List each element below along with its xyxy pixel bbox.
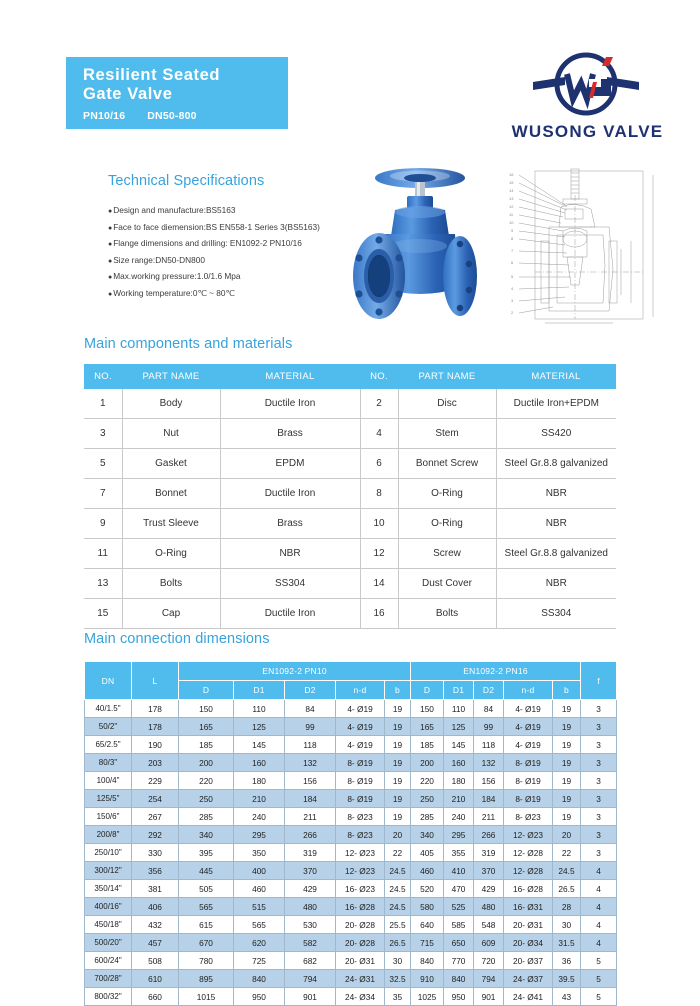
cell-value: 32.5 xyxy=(385,970,411,988)
cell-value: 4- Ø19 xyxy=(336,700,385,718)
cell-value: 240 xyxy=(444,808,474,826)
cell-value: 210 xyxy=(444,790,474,808)
cell-value: 250 xyxy=(411,790,444,808)
cell-value: 4 xyxy=(581,916,617,934)
col-no-2: NO. xyxy=(360,364,398,389)
cell-value: 30 xyxy=(553,916,581,934)
company-logo: WUSONG VALVE xyxy=(495,52,680,152)
cell-value: 4 xyxy=(581,898,617,916)
cell-value: 4- Ø19 xyxy=(336,718,385,736)
col-dn: DN xyxy=(85,662,132,700)
cell-value: 19 xyxy=(385,790,411,808)
cell-part-name: Dust Cover xyxy=(398,569,496,599)
bullet-icon: ● xyxy=(108,258,112,265)
bullet-icon: ● xyxy=(108,241,112,248)
product-title-line2: Gate Valve xyxy=(83,85,288,104)
cell-value: 24.5 xyxy=(385,862,411,880)
cell-value: 22 xyxy=(385,844,411,862)
cell-value: 16- Ø28 xyxy=(504,880,553,898)
cell-value: 35 xyxy=(385,988,411,1006)
cell-material: Steel Gr.8.8 galvanized xyxy=(496,539,616,569)
cell-value: 165 xyxy=(411,718,444,736)
cell-value: 610 xyxy=(132,970,179,988)
cell-value: 640 xyxy=(411,916,444,934)
col-pn10-d1: D1 xyxy=(234,681,285,700)
cell-value: 19 xyxy=(553,790,581,808)
cell-value: 20 xyxy=(553,826,581,844)
cell-value: 615 xyxy=(179,916,234,934)
cell-value: 3 xyxy=(581,772,617,790)
cell-material: EPDM xyxy=(220,449,360,479)
cell-value: 180 xyxy=(234,772,285,790)
cell-value: 295 xyxy=(444,826,474,844)
cell-value: 19 xyxy=(553,772,581,790)
dimensions-header-row-1: DN L EN1092-2 PN10 EN1092-2 PN16 f xyxy=(85,662,617,681)
cell-part-name: Bonnet xyxy=(122,479,220,509)
cell-value: 406 xyxy=(132,898,179,916)
cell-value: 660 xyxy=(132,988,179,1006)
cell-no: 7 xyxy=(84,479,122,509)
cell-value: 480 xyxy=(285,898,336,916)
table-row: 13 Bolts SS304 14 Dust Cover NBR xyxy=(84,569,616,599)
cell-value: 355 xyxy=(444,844,474,862)
cell-value: 145 xyxy=(234,736,285,754)
spec-item-text: Face to face diemension:BS EN558-1 Serie… xyxy=(113,222,320,232)
svg-text:5: 5 xyxy=(511,274,514,279)
cell-value: 150 xyxy=(179,700,234,718)
cell-value: 118 xyxy=(285,736,336,754)
table-row: 125/5"2542502101848- Ø19192502101848- Ø1… xyxy=(85,790,617,808)
cell-part-name: O-Ring xyxy=(398,509,496,539)
cell-value: 254 xyxy=(132,790,179,808)
cell-value: 22 xyxy=(553,844,581,862)
cell-value: 445 xyxy=(179,862,234,880)
cell-value: 292 xyxy=(132,826,179,844)
col-l: L xyxy=(132,662,179,700)
cell-part-name: Cap xyxy=(122,599,220,629)
cell-material: SS304 xyxy=(496,599,616,629)
cell-value: 24- Ø31 xyxy=(336,970,385,988)
cell-material: Steel Gr.8.8 galvanized xyxy=(496,449,616,479)
svg-text:14: 14 xyxy=(509,188,514,193)
table-row: 300/12"35644540037012- Ø2324.54604103701… xyxy=(85,862,617,880)
cell-part-name: Bolts xyxy=(398,599,496,629)
table-row: 150/6"2672852402118- Ø23192852402118- Ø2… xyxy=(85,808,617,826)
cell-value: 794 xyxy=(474,970,504,988)
col-pn16-d: D xyxy=(411,681,444,700)
svg-text:4: 4 xyxy=(511,286,514,291)
col-pn10-d: D xyxy=(179,681,234,700)
product-title-line1: Resilient Seated xyxy=(83,66,288,85)
cell-dn: 150/6" xyxy=(85,808,132,826)
cell-value: 565 xyxy=(179,898,234,916)
svg-text:3: 3 xyxy=(511,298,514,303)
cell-part-name: Nut xyxy=(122,419,220,449)
cell-value: 725 xyxy=(234,952,285,970)
spec-item-text: Working temperature:0℃ ~ 80℃ xyxy=(113,288,235,298)
cell-dn: 450/18" xyxy=(85,916,132,934)
main-components-heading: Main components and materials xyxy=(84,336,292,352)
table-row: 9 Trust Sleeve Brass 10 O-Ring NBR xyxy=(84,509,616,539)
table-row: 250/10"33039535031912- Ø232240535531912-… xyxy=(85,844,617,862)
cell-dn: 350/14" xyxy=(85,880,132,898)
cell-value: 99 xyxy=(474,718,504,736)
page-header: Resilient Seated Gate Valve PN10/16DN50-… xyxy=(0,0,700,160)
table-row: 1 Body Ductile Iron 2 Disc Ductile Iron+… xyxy=(84,389,616,419)
cell-value: 220 xyxy=(179,772,234,790)
cell-value: 19 xyxy=(385,754,411,772)
svg-text:16: 16 xyxy=(509,172,514,177)
cell-value: 4 xyxy=(581,880,617,898)
cell-value: 200 xyxy=(411,754,444,772)
col-group-pn16: EN1092-2 PN16 xyxy=(411,662,581,681)
cell-value: 26.5 xyxy=(385,934,411,952)
cell-value: 520 xyxy=(411,880,444,898)
cell-material: SS420 xyxy=(496,419,616,449)
cell-value: 410 xyxy=(444,862,474,880)
cell-value: 1015 xyxy=(179,988,234,1006)
cell-value: 356 xyxy=(132,862,179,880)
spec-item-text: Size range:DN50-DN800 xyxy=(113,255,205,265)
cell-value: 670 xyxy=(179,934,234,952)
cell-value: 295 xyxy=(234,826,285,844)
cell-material: NBR xyxy=(496,569,616,599)
cell-material: Ductile Iron+EPDM xyxy=(496,389,616,419)
cell-value: 267 xyxy=(132,808,179,826)
cell-dn: 500/20" xyxy=(85,934,132,952)
table-row: 50/2"178165125994- Ø1919165125994- Ø1919… xyxy=(85,718,617,736)
col-pn16-nd: n-d xyxy=(504,681,553,700)
cell-value: 4- Ø19 xyxy=(336,736,385,754)
cell-value: 24.5 xyxy=(385,880,411,898)
cell-value: 156 xyxy=(285,772,336,790)
cell-value: 780 xyxy=(179,952,234,970)
cell-value: 340 xyxy=(179,826,234,844)
col-pn16-d1: D1 xyxy=(444,681,474,700)
table-row: 7 Bonnet Ductile Iron 8 O-Ring NBR xyxy=(84,479,616,509)
cell-value: 3 xyxy=(581,844,617,862)
cell-value: 3 xyxy=(581,700,617,718)
cell-value: 184 xyxy=(285,790,336,808)
cell-value: 39.5 xyxy=(553,970,581,988)
components-table-header-row: NO. PART NAME MATERIAL NO. PART NAME MAT… xyxy=(84,364,616,389)
cell-value: 405 xyxy=(411,844,444,862)
cell-value: 5 xyxy=(581,970,617,988)
cell-value: 480 xyxy=(474,898,504,916)
col-part-name-2: PART NAME xyxy=(398,364,496,389)
cell-dn: 50/2" xyxy=(85,718,132,736)
cell-value: 19 xyxy=(553,700,581,718)
cell-value: 211 xyxy=(285,808,336,826)
cell-value: 508 xyxy=(132,952,179,970)
cell-value: 340 xyxy=(411,826,444,844)
bullet-icon: ● xyxy=(108,225,112,232)
cell-value: 24- Ø34 xyxy=(336,988,385,1006)
cell-value: 12- Ø23 xyxy=(504,826,553,844)
cell-material: NBR xyxy=(496,479,616,509)
cell-value: 330 xyxy=(132,844,179,862)
cell-value: 400 xyxy=(234,862,285,880)
cell-part-name: Bonnet Screw xyxy=(398,449,496,479)
cell-value: 19 xyxy=(385,808,411,826)
table-row: 350/14"38150546042916- Ø2324.55204704291… xyxy=(85,880,617,898)
cell-value: 5 xyxy=(581,952,617,970)
cell-value: 25.5 xyxy=(385,916,411,934)
cell-value: 178 xyxy=(132,718,179,736)
cell-part-name: Trust Sleeve xyxy=(122,509,220,539)
cell-value: 20- Ø31 xyxy=(336,952,385,970)
cell-value: 160 xyxy=(444,754,474,772)
cell-material: Ductile Iron xyxy=(220,389,360,419)
main-connection-dimensions-table: DN L EN1092-2 PN10 EN1092-2 PN16 f D D1 … xyxy=(84,661,617,1006)
cell-value: 319 xyxy=(474,844,504,862)
cell-value: 180 xyxy=(444,772,474,790)
table-row: 5 Gasket EPDM 6 Bonnet Screw Steel Gr.8.… xyxy=(84,449,616,479)
cell-material: SS304 xyxy=(220,569,360,599)
table-row: 800/32"660101595090124- Ø343510259509012… xyxy=(85,988,617,1006)
cell-value: 895 xyxy=(179,970,234,988)
cell-value: 19 xyxy=(553,718,581,736)
cell-value: 285 xyxy=(411,808,444,826)
table-row: 400/16"40656551548016- Ø2824.55805254801… xyxy=(85,898,617,916)
cell-value: 185 xyxy=(411,736,444,754)
cell-dn: 100/4" xyxy=(85,772,132,790)
cell-value: 160 xyxy=(234,754,285,772)
cell-value: 5 xyxy=(581,988,617,1006)
cell-value: 24.5 xyxy=(553,862,581,880)
cell-value: 840 xyxy=(411,952,444,970)
cell-material: NBR xyxy=(496,509,616,539)
cell-value: 20 xyxy=(385,826,411,844)
cell-material: Ductile Iron xyxy=(220,599,360,629)
cell-value: 3 xyxy=(581,754,617,772)
size-range-label: DN50-800 xyxy=(147,110,196,122)
table-row: 15 Cap Ductile Iron 16 Bolts SS304 xyxy=(84,599,616,629)
cell-value: 515 xyxy=(234,898,285,916)
cell-part-name: Bolts xyxy=(122,569,220,599)
cell-value: 125 xyxy=(444,718,474,736)
svg-text:11: 11 xyxy=(509,212,514,217)
pressure-rating-label: PN10/16 xyxy=(83,110,125,122)
cell-value: 12- Ø23 xyxy=(336,862,385,880)
cell-value: 8- Ø23 xyxy=(336,808,385,826)
cell-value: 8- Ø19 xyxy=(336,754,385,772)
cell-value: 203 xyxy=(132,754,179,772)
cell-value: 901 xyxy=(474,988,504,1006)
cell-value: 118 xyxy=(474,736,504,754)
cell-part-name: Body xyxy=(122,389,220,419)
cell-value: 381 xyxy=(132,880,179,898)
cell-dn: 80/3" xyxy=(85,754,132,772)
cell-value: 8- Ø19 xyxy=(504,772,553,790)
cell-value: 266 xyxy=(474,826,504,844)
cell-value: 20- Ø37 xyxy=(504,952,553,970)
cell-part-name: O-Ring xyxy=(122,539,220,569)
cell-value: 901 xyxy=(285,988,336,1006)
cell-no: 16 xyxy=(360,599,398,629)
cell-value: 132 xyxy=(285,754,336,772)
cell-value: 28 xyxy=(553,898,581,916)
cell-value: 178 xyxy=(132,700,179,718)
col-pn10-d2: D2 xyxy=(285,681,336,700)
cell-material: NBR xyxy=(220,539,360,569)
cell-value: 4 xyxy=(581,934,617,952)
col-pn10-b: b xyxy=(385,681,411,700)
cell-dn: 800/32" xyxy=(85,988,132,1006)
cell-value: 770 xyxy=(444,952,474,970)
cell-dn: 400/16" xyxy=(85,898,132,916)
bullet-icon: ● xyxy=(108,208,112,215)
cell-dn: 65/2.5" xyxy=(85,736,132,754)
cell-no: 6 xyxy=(360,449,398,479)
cell-part-name: Gasket xyxy=(122,449,220,479)
svg-text:15: 15 xyxy=(509,180,514,185)
bullet-icon: ● xyxy=(108,291,112,298)
cell-value: 3 xyxy=(581,790,617,808)
cell-value: 4- Ø19 xyxy=(504,718,553,736)
cell-value: 432 xyxy=(132,916,179,934)
spec-item-text: Flange dimensions and drilling: EN1092-2… xyxy=(113,238,302,248)
main-dimensions-heading: Main connection dimensions xyxy=(84,631,270,647)
cell-value: 19 xyxy=(553,736,581,754)
cell-no: 15 xyxy=(84,599,122,629)
cell-no: 8 xyxy=(360,479,398,509)
cell-value: 950 xyxy=(444,988,474,1006)
svg-text:13: 13 xyxy=(509,196,514,201)
cell-dn: 125/5" xyxy=(85,790,132,808)
col-group-pn10: EN1092-2 PN10 xyxy=(179,662,411,681)
cell-value: 950 xyxy=(234,988,285,1006)
cell-value: 350 xyxy=(234,844,285,862)
cell-no: 10 xyxy=(360,509,398,539)
table-row: 65/2.5"1901851451184- Ø19191851451184- Ø… xyxy=(85,736,617,754)
col-material-1: MATERIAL xyxy=(220,364,360,389)
cell-value: 20- Ø31 xyxy=(504,916,553,934)
cell-dn: 200/8" xyxy=(85,826,132,844)
cell-value: 19 xyxy=(553,754,581,772)
cell-value: 43 xyxy=(553,988,581,1006)
cell-value: 19 xyxy=(385,700,411,718)
cell-value: 3 xyxy=(581,718,617,736)
cell-part-name: Disc xyxy=(398,389,496,419)
cell-value: 200 xyxy=(179,754,234,772)
cell-value: 3 xyxy=(581,736,617,754)
cell-value: 99 xyxy=(285,718,336,736)
svg-text:12: 12 xyxy=(509,204,514,209)
cell-value: 505 xyxy=(179,880,234,898)
cell-value: 429 xyxy=(474,880,504,898)
cell-value: 4 xyxy=(581,862,617,880)
table-row: 11 O-Ring NBR 12 Screw Steel Gr.8.8 galv… xyxy=(84,539,616,569)
svg-text:8: 8 xyxy=(511,236,514,241)
cell-value: 19 xyxy=(385,718,411,736)
cell-value: 8- Ø19 xyxy=(504,790,553,808)
bullet-icon: ● xyxy=(108,274,112,281)
cell-no: 9 xyxy=(84,509,122,539)
cell-dn: 700/28" xyxy=(85,970,132,988)
cell-value: 110 xyxy=(444,700,474,718)
cell-value: 31.5 xyxy=(553,934,581,952)
cell-material: Brass xyxy=(220,419,360,449)
cell-value: 24- Ø41 xyxy=(504,988,553,1006)
cell-value: 150 xyxy=(411,700,444,718)
cell-value: 156 xyxy=(474,772,504,790)
table-row: 40/1.5"178150110844- Ø1919150110844- Ø19… xyxy=(85,700,617,718)
cell-value: 20- Ø28 xyxy=(336,934,385,952)
cell-value: 19 xyxy=(385,736,411,754)
cell-value: 620 xyxy=(234,934,285,952)
cell-no: 2 xyxy=(360,389,398,419)
table-row: 500/20"45767062058220- Ø2826.57156506092… xyxy=(85,934,617,952)
svg-text:6: 6 xyxy=(511,260,514,265)
main-components-table: NO. PART NAME MATERIAL NO. PART NAME MAT… xyxy=(84,364,616,629)
cell-value: 609 xyxy=(474,934,504,952)
cell-value: 4- Ø19 xyxy=(504,700,553,718)
table-row: 450/18"43261556553020- Ø2825.56405855482… xyxy=(85,916,617,934)
cell-value: 3 xyxy=(581,826,617,844)
cell-value: 8- Ø19 xyxy=(504,754,553,772)
table-row: 600/24"50878072568220- Ø313084077072020-… xyxy=(85,952,617,970)
cell-value: 26.5 xyxy=(553,880,581,898)
svg-text:2: 2 xyxy=(511,310,514,315)
cell-value: 145 xyxy=(444,736,474,754)
cell-part-name: Stem xyxy=(398,419,496,449)
cell-value: 3 xyxy=(581,808,617,826)
cell-value: 185 xyxy=(179,736,234,754)
product-photo-gate-valve xyxy=(333,160,508,335)
col-part-name-1: PART NAME xyxy=(122,364,220,389)
cell-value: 8- Ø23 xyxy=(504,808,553,826)
cell-value: 580 xyxy=(411,898,444,916)
cell-value: 8- Ø19 xyxy=(336,772,385,790)
cell-value: 8- Ø23 xyxy=(336,826,385,844)
col-material-2: MATERIAL xyxy=(496,364,616,389)
cell-value: 211 xyxy=(474,808,504,826)
company-name: WUSONG VALVE xyxy=(495,122,680,142)
col-pn16-d2: D2 xyxy=(474,681,504,700)
cell-value: 184 xyxy=(474,790,504,808)
svg-text:9: 9 xyxy=(511,228,514,233)
cell-value: 682 xyxy=(285,952,336,970)
cell-value: 16- Ø31 xyxy=(504,898,553,916)
cell-dn: 300/12" xyxy=(85,862,132,880)
cell-value: 132 xyxy=(474,754,504,772)
cell-no: 3 xyxy=(84,419,122,449)
cell-value: 285 xyxy=(179,808,234,826)
cell-value: 650 xyxy=(444,934,474,952)
cell-value: 565 xyxy=(234,916,285,934)
cell-value: 36 xyxy=(553,952,581,970)
cell-material: Brass xyxy=(220,509,360,539)
cell-value: 229 xyxy=(132,772,179,790)
cell-material: Ductile Iron xyxy=(220,479,360,509)
product-title-subtitle: PN10/16DN50-800 xyxy=(83,110,288,122)
cell-value: 110 xyxy=(234,700,285,718)
cell-value: 165 xyxy=(179,718,234,736)
cell-value: 20- Ø34 xyxy=(504,934,553,952)
cell-value: 840 xyxy=(444,970,474,988)
cell-dn: 40/1.5" xyxy=(85,700,132,718)
cell-value: 460 xyxy=(234,880,285,898)
cell-value: 370 xyxy=(285,862,336,880)
cell-value: 12- Ø23 xyxy=(336,844,385,862)
col-f: f xyxy=(581,662,617,700)
product-title-banner: Resilient Seated Gate Valve PN10/16DN50-… xyxy=(66,57,288,129)
cell-value: 429 xyxy=(285,880,336,898)
cell-value: 8- Ø19 xyxy=(336,790,385,808)
technical-specifications-heading: Technical Specifications xyxy=(108,173,264,189)
cell-value: 266 xyxy=(285,826,336,844)
